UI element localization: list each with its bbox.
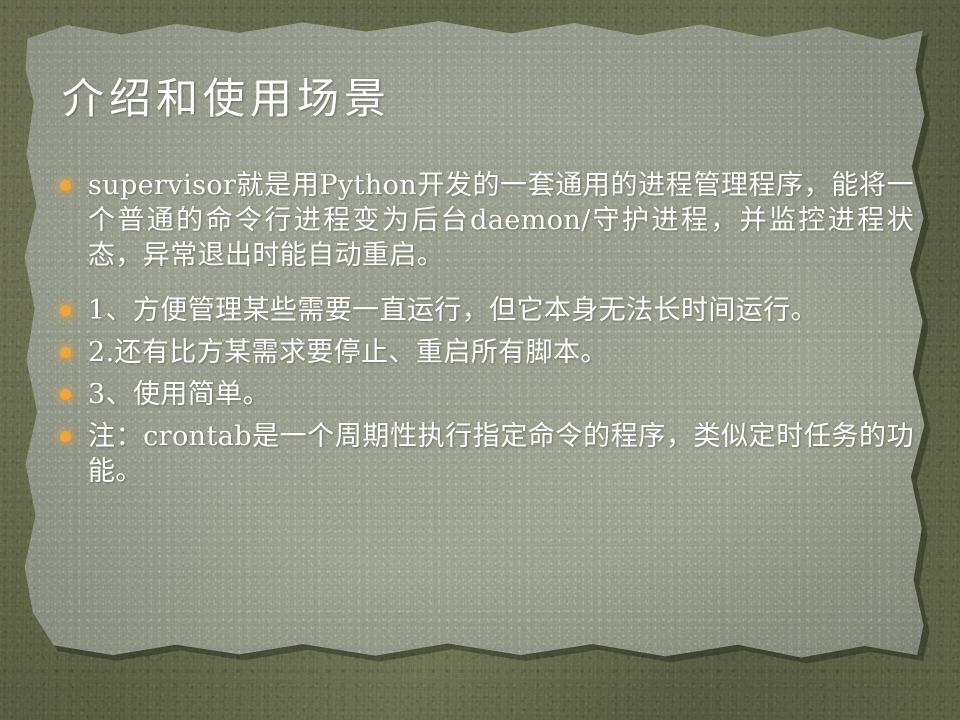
orange-dot-icon [60,305,71,316]
list-item: supervisor就是用Python开发的一套通用的进程管理程序，能将一个普通… [52,168,914,273]
slide-content: 介绍和使用场景 supervisor就是用Python开发的一套通用的进程管理程… [0,0,960,720]
list-item: 注：crontab是一个周期性执行指定命令的程序，类似定时任务的功能。 [52,419,914,489]
orange-dot-icon [60,180,71,191]
orange-dot-icon [60,347,71,358]
bullet-text-usecase-1: 1、方便管理某些需要一直运行，但它本身无法长时间运行。 [88,293,914,328]
bullet-text-usecase-3: 3、使用简单。 [88,377,914,412]
bullet-text-usecase-2: 2.还有比方某需求要停止、重启所有脚本。 [88,335,914,370]
bullet-text-note-crontab: 注：crontab是一个周期性执行指定命令的程序，类似定时任务的功能。 [88,419,914,489]
list-item: 1、方便管理某些需要一直运行，但它本身无法长时间运行。 [52,293,914,328]
orange-dot-icon [60,389,71,400]
slide-title: 介绍和使用场景 [62,74,391,124]
bullet-list: supervisor就是用Python开发的一套通用的进程管理程序，能将一个普通… [52,168,914,489]
orange-dot-icon [60,431,71,442]
bullet-text-intro: supervisor就是用Python开发的一套通用的进程管理程序，能将一个普通… [88,168,914,273]
list-item: 2.还有比方某需求要停止、重启所有脚本。 [52,335,914,370]
presentation-slide: 介绍和使用场景 supervisor就是用Python开发的一套通用的进程管理程… [0,0,960,720]
list-item: 3、使用简单。 [52,377,914,412]
